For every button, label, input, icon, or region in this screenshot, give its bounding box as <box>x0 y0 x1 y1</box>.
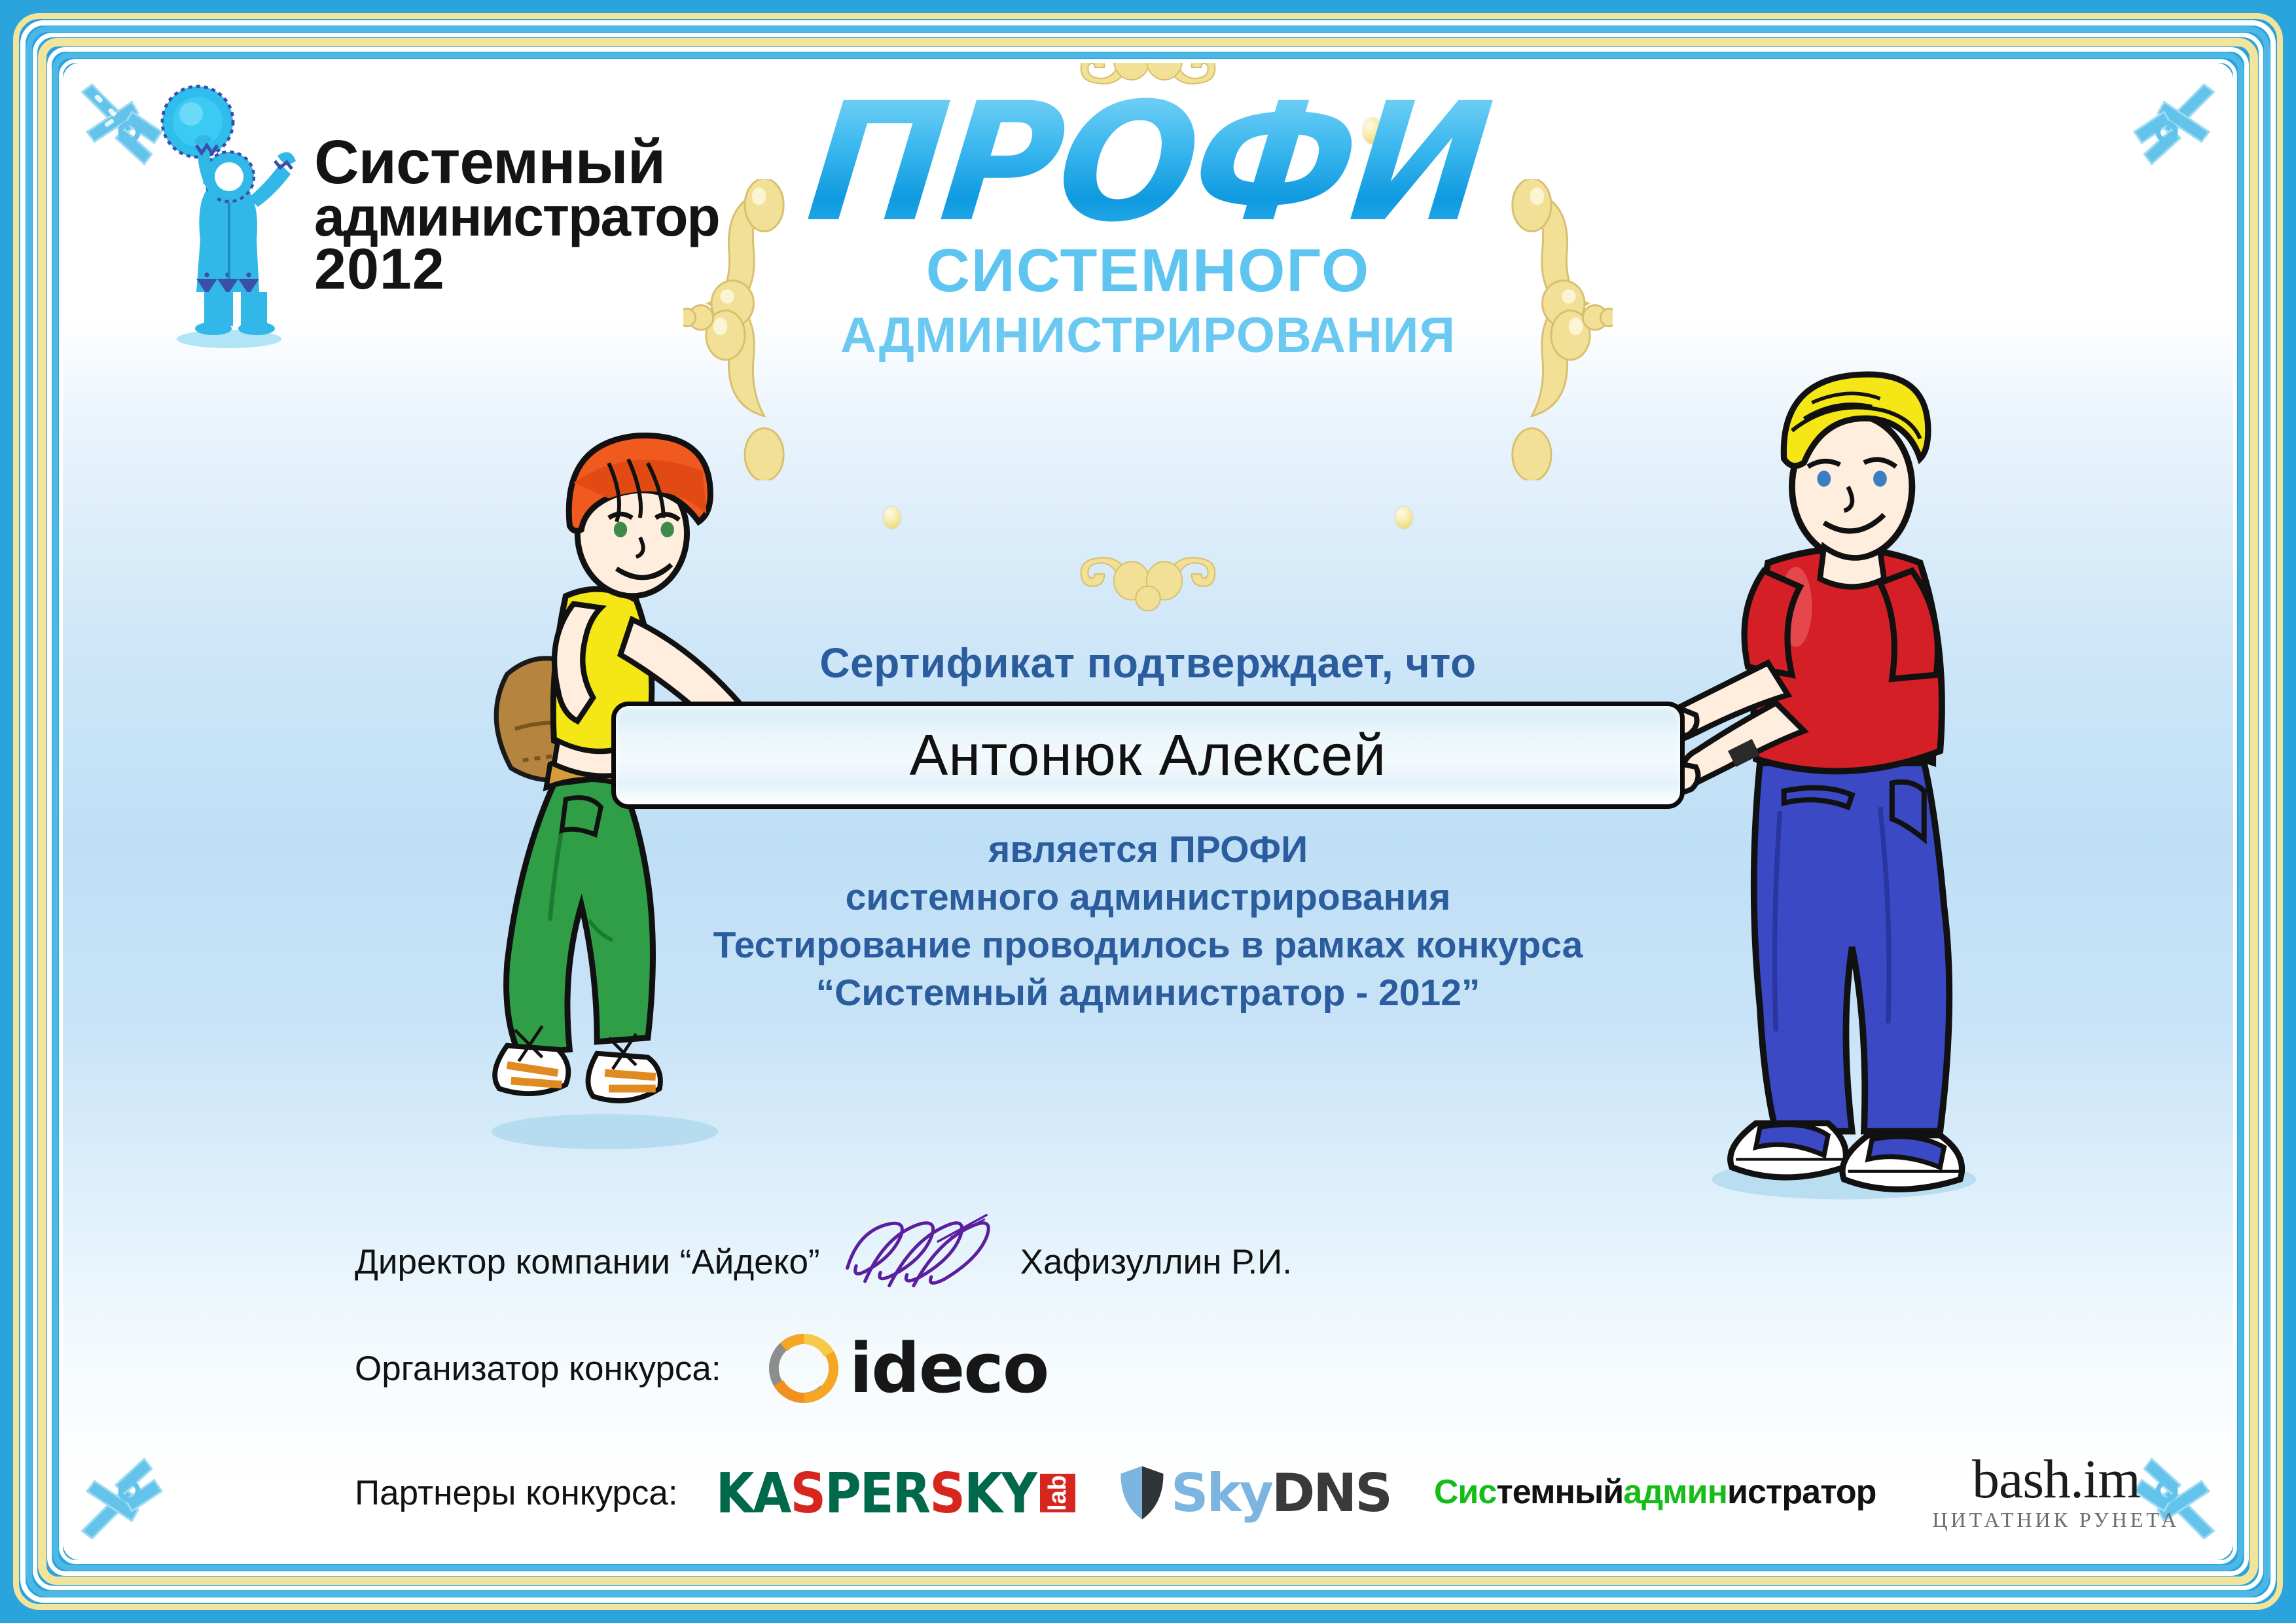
organizer-row: Организатор конкурса: ideco <box>355 1326 1271 1411</box>
gold-flourish-icon <box>1066 539 1230 611</box>
crimping-tool-icon <box>2097 75 2221 199</box>
partners-row: Партнеры конкурса: KASPERSKY lab SkyDNS … <box>355 1444 2233 1542</box>
organizer-label: Организатор конкурса: <box>355 1349 721 1389</box>
partner-skydns-logo: SkyDNS <box>1119 1463 1391 1524</box>
ideco-wordmark: ideco <box>850 1329 1049 1408</box>
bashim-tagline: ЦИТАТНИК РУНЕТА <box>1932 1508 2179 1532</box>
eskimo-icon <box>154 82 305 351</box>
certificate-body-line-1: является ПРОФИ <box>611 826 1685 874</box>
sysadmin-2012-logo: Системный администратор 2012 <box>154 82 730 364</box>
recipient-name: Антонюк Алексей <box>910 722 1387 789</box>
ideco-swirl-icon <box>764 1329 843 1408</box>
certificate-body-line-3: Тестирование проводилось в рамках конкур… <box>611 921 1685 969</box>
brand-line-3: 2012 <box>314 242 719 296</box>
partners-label: Партнеры конкурса: <box>355 1473 678 1513</box>
certificate-body-line-4: “Системный администратор - 2012” <box>611 969 1685 1017</box>
skydns-dns-text: DNS <box>1272 1463 1391 1524</box>
profi-title: ПРОФИ <box>714 81 1582 245</box>
kaspersky-lab-badge: lab <box>1040 1474 1075 1512</box>
partner-sysadmin-magazine-logo: Системный администратор <box>1434 1478 1876 1507</box>
gold-dot-icon <box>1395 507 1412 529</box>
profi-headline-block: ПРОФИ СИСТЕМНОГО АДМИНИСТРИРОВАНИЯ <box>723 81 1573 364</box>
partner-kaspersky-logo: KASPERSKY lab <box>716 1464 1075 1522</box>
profi-subtitle-2: АДМИНИСТРИРОВАНИЯ <box>723 307 1573 364</box>
certificate-root: Системный администратор 2012 <box>0 0 2296 1623</box>
recipient-name-plate: Антонюк Алексей <box>611 702 1685 809</box>
certificate-text-column: Сертификат подтверждает, что Антонюк Але… <box>611 639 1685 1017</box>
sysadmin-partner-line-1: Системный <box>1434 1473 1623 1511</box>
gold-dot-icon <box>884 507 901 529</box>
certificate-page: Системный администратор 2012 <box>63 63 2233 1560</box>
director-name: Хафизуллин Р.И. <box>1020 1242 1292 1282</box>
certificate-code-line: Код сертификата: C7192-FACBD-F2086-24975… <box>559 1559 1737 1560</box>
male-character-illustration <box>1660 370 2000 1202</box>
partner-bashim-logo: bash.im ЦИТАТНИК РУНЕТА <box>1932 1454 2179 1533</box>
kaspersky-wordmark: KASPERSKY <box>716 1460 1036 1525</box>
certificate-confirm-text: Сертификат подтверждает, что <box>611 639 1685 687</box>
ideco-logo: ideco <box>764 1329 1049 1408</box>
certificate-date: 27.07.2012 <box>1369 1559 1513 1560</box>
bashim-wordmark: bash.im <box>1932 1454 2179 1506</box>
sysadmin-wordmark: Системный администратор 2012 <box>314 82 719 296</box>
shield-icon <box>1119 1465 1166 1521</box>
sysadmin-partner-line-2: администратор <box>1623 1473 1876 1511</box>
handwritten-signature-icon <box>832 1207 1009 1298</box>
brand-line-1: Системный <box>314 134 719 191</box>
skydns-sky-text: Sky <box>1171 1463 1272 1524</box>
signature-row: Директор компании “Айдеко” Хафизуллин Р.… <box>355 1222 1454 1301</box>
director-title: Директор компании “Айдеко” <box>355 1242 820 1282</box>
certificate-body-line-2: системного администрирования <box>611 874 1685 921</box>
brand-line-2: администратор <box>314 191 719 242</box>
crimping-tool-icon <box>75 1424 199 1548</box>
